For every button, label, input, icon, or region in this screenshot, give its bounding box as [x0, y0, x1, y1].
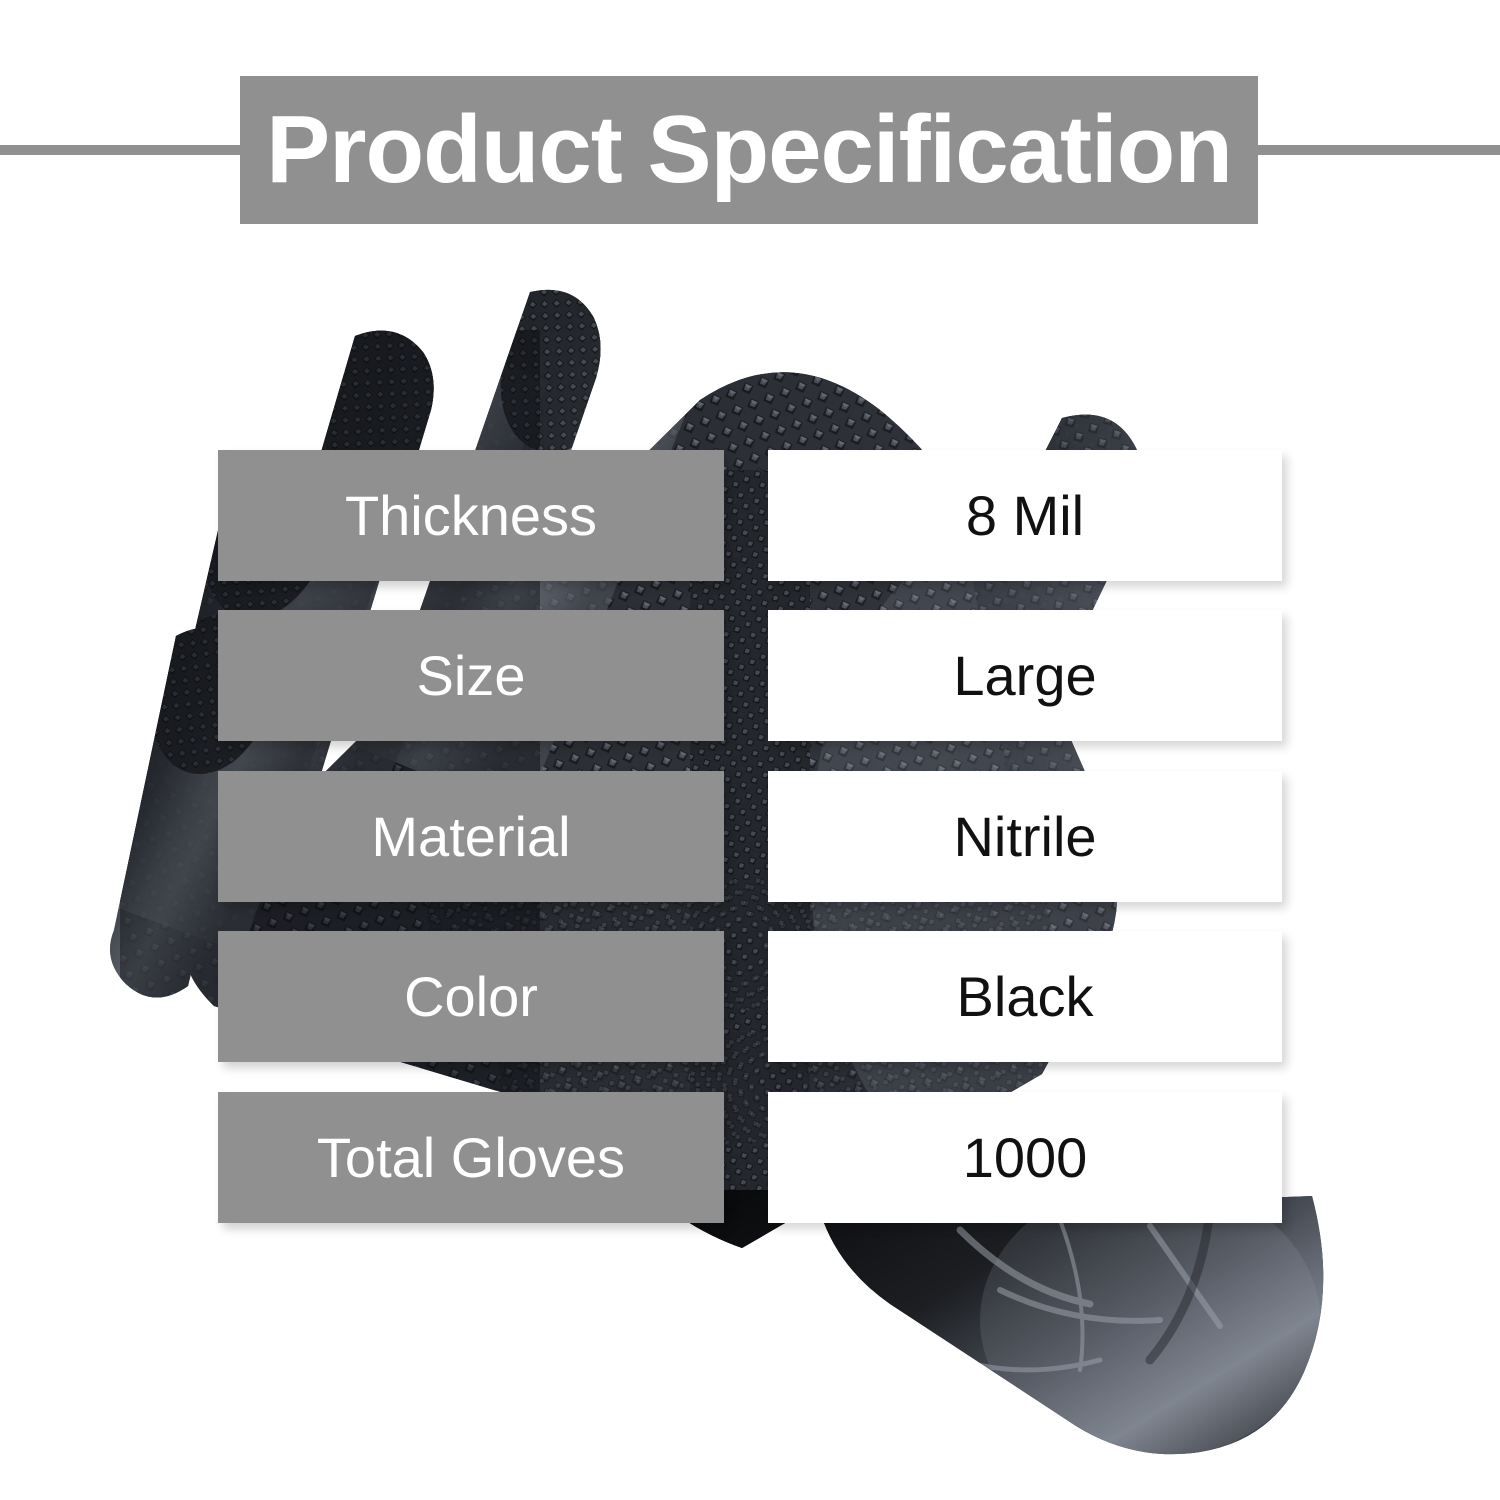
- spec-value-color: Black: [768, 931, 1282, 1062]
- spec-value-text: Black: [957, 969, 1094, 1025]
- table-row: Material Nitrile: [0, 771, 1500, 902]
- spec-label-text: Thickness: [345, 488, 597, 544]
- spec-value-size: Large: [768, 610, 1282, 741]
- spec-table: Thickness 8 Mil Size Large Material Nitr…: [0, 0, 1500, 1500]
- table-row: Size Large: [0, 610, 1500, 741]
- spec-value-text: 8 Mil: [966, 488, 1084, 544]
- table-row: Thickness 8 Mil: [0, 450, 1500, 581]
- spec-label-text: Size: [417, 648, 526, 704]
- spec-value-total-gloves: 1000: [768, 1092, 1282, 1223]
- spec-label-material: Material: [218, 771, 724, 902]
- spec-label-text: Color: [404, 969, 538, 1025]
- table-row: Color Black: [0, 931, 1500, 1062]
- spec-value-material: Nitrile: [768, 771, 1282, 902]
- spec-label-thickness: Thickness: [218, 450, 724, 581]
- spec-label-text: Total Gloves: [317, 1130, 625, 1186]
- spec-label-color: Color: [218, 931, 724, 1062]
- spec-value-text: Large: [953, 648, 1096, 704]
- product-specification-poster: Product Specification Thickness 8 Mil Si…: [0, 0, 1500, 1500]
- spec-label-size: Size: [218, 610, 724, 741]
- spec-label-total-gloves: Total Gloves: [218, 1092, 724, 1223]
- spec-label-text: Material: [371, 809, 570, 865]
- table-row: Total Gloves 1000: [0, 1092, 1500, 1223]
- spec-value-thickness: 8 Mil: [768, 450, 1282, 581]
- spec-value-text: Nitrile: [953, 809, 1096, 865]
- spec-value-text: 1000: [963, 1130, 1088, 1186]
